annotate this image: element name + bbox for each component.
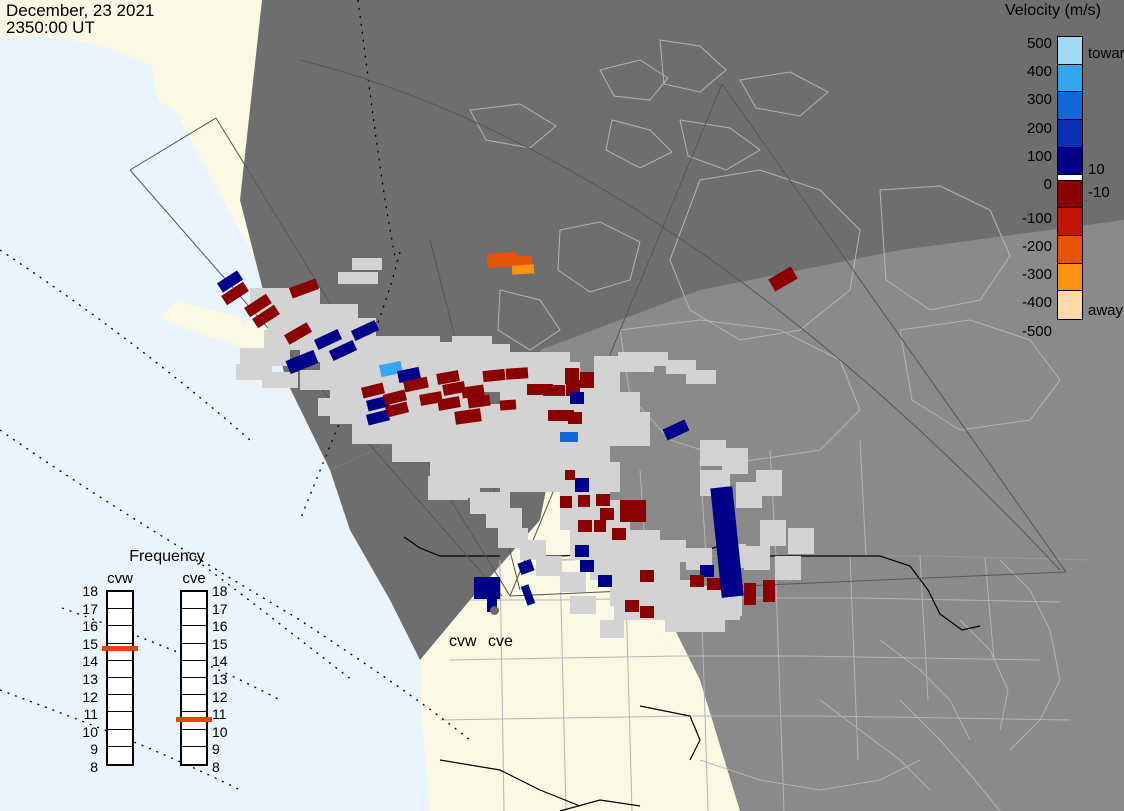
- radar-site-dot: [490, 606, 499, 615]
- colorbar-segment: [1058, 236, 1082, 264]
- frequency-scale-label: 10: [76, 725, 98, 739]
- colorbar-ticks: 5004003002001000-100-200-300-400-500: [996, 28, 1052, 328]
- colorbar-segment: [1058, 120, 1082, 148]
- velocity-cell: [500, 399, 517, 410]
- frequency-tick-row: [182, 644, 206, 661]
- ground-scatter-cell: [300, 370, 350, 390]
- frequency-scale-label: 11: [212, 707, 234, 721]
- ground-scatter-cell: [788, 528, 814, 554]
- frequency-tick-row: [182, 609, 206, 626]
- ground-scatter-cell: [690, 602, 716, 622]
- frequency-tick-row: [182, 592, 206, 609]
- ground-scatter-cell: [262, 372, 298, 388]
- colorbar-segment: [1058, 208, 1082, 236]
- colorbar-away-label: away: [1088, 303, 1123, 318]
- velocity-colorbar: Velocity (m/s) 5004003002001000-100-200-…: [1000, 0, 1124, 340]
- velocity-cell: [580, 560, 594, 572]
- velocity-cell: [744, 583, 756, 605]
- ground-scatter-cell: [640, 546, 666, 568]
- velocity-cell: [512, 255, 533, 265]
- ground-scatter-cell: [686, 370, 716, 384]
- velocity-cell: [580, 372, 594, 388]
- radar-velocity-map: December, 23 20212350:00 UT cvw cve Velo…: [0, 0, 1124, 811]
- velocity-cell: [707, 578, 721, 590]
- colorbar-tick-label: 500: [1027, 36, 1052, 51]
- frequency-tick-row: [182, 678, 206, 695]
- ground-scatter-cell: [412, 430, 472, 454]
- frequency-scale-label: 9: [212, 742, 234, 756]
- velocity-cell: [640, 570, 654, 582]
- colorbar-tick-label: -300: [1022, 267, 1052, 282]
- colorbar-tick-label: -100: [1022, 211, 1052, 226]
- frequency-scale-label: 18: [212, 584, 234, 598]
- frequency-scale-label: 8: [212, 760, 234, 774]
- ground-scatter-cell: [480, 470, 510, 488]
- frequency-gauge-cve-box: [180, 590, 208, 766]
- frequency-scale-label: 17: [212, 602, 234, 616]
- colorbar-segment: [1058, 65, 1082, 93]
- frequency-gauge-cve-labels: 18171615141312111098: [212, 590, 238, 766]
- velocity-cell: [612, 528, 626, 540]
- frequency-scale-label: 15: [212, 637, 234, 651]
- frequency-gauge-cve-grid: [182, 592, 206, 764]
- ground-scatter-cell: [744, 546, 770, 570]
- frequency-tick-row: [182, 661, 206, 678]
- frequency-gauge-cve-name: cve: [172, 570, 216, 587]
- time-text: 2350:00 UT: [6, 18, 95, 37]
- ground-scatter-cell: [318, 398, 358, 416]
- site-label-cve: cve: [488, 633, 513, 651]
- frequency-tick-row: [108, 609, 132, 626]
- ground-scatter-cell: [536, 556, 562, 576]
- frequency-marker: [102, 646, 138, 651]
- frequency-tick-row: [108, 695, 132, 712]
- velocity-cell: [596, 494, 610, 506]
- velocity-cell: [620, 500, 646, 522]
- colorbar-toward-label: toward: [1088, 46, 1124, 61]
- colorbar-segment: [1058, 181, 1082, 209]
- frequency-scale-label: 15: [76, 637, 98, 651]
- ground-scatter-cell: [450, 480, 480, 498]
- velocity-cell: [506, 367, 529, 380]
- frequency-tick-row: [108, 712, 132, 729]
- frequency-gauge-cvw-labels: 18171615141312111098: [76, 590, 102, 766]
- velocity-cell: [763, 580, 775, 602]
- site-label-cvw: cvw: [449, 633, 477, 651]
- colorbar-neg-threshold: -10: [1088, 185, 1110, 200]
- velocity-cell: [640, 606, 654, 618]
- frequency-scale-label: 13: [212, 672, 234, 686]
- colorbar-tick-label: 100: [1027, 149, 1052, 164]
- frequency-scale-label: 8: [76, 760, 98, 774]
- velocity-cell: [512, 264, 535, 275]
- ground-scatter-cell: [775, 556, 801, 580]
- velocity-cell: [578, 495, 590, 507]
- colorbar-tick-label: 400: [1027, 64, 1052, 79]
- frequency-scale-label: 12: [76, 690, 98, 704]
- frequency-scale-label: 10: [212, 725, 234, 739]
- frequency-title: Frequency: [92, 548, 242, 566]
- frequency-scale-label: 9: [76, 742, 98, 756]
- frequency-tick-row: [108, 747, 132, 764]
- colorbar-tick-label: -500: [1022, 324, 1052, 339]
- velocity-cell: [482, 369, 505, 382]
- velocity-cell: [570, 392, 584, 404]
- frequency-scale-label: 14: [76, 654, 98, 668]
- colorbar-segment: [1058, 264, 1082, 292]
- frequency-tick-row: [182, 626, 206, 643]
- ground-scatter-cell: [760, 520, 786, 546]
- colorbar-gradient: [1057, 36, 1083, 320]
- velocity-cell: [625, 600, 639, 612]
- frequency-marker: [176, 717, 212, 722]
- frequency-legend: Frequency cvw 18171615141312111098 cve 1…: [92, 548, 242, 793]
- colorbar-tick-label: -400: [1022, 295, 1052, 310]
- frequency-gauge-cvw-box: [106, 590, 134, 766]
- frequency-scale-label: 16: [76, 619, 98, 633]
- velocity-cell: [598, 575, 612, 587]
- frequency-tick-row: [182, 730, 206, 747]
- velocity-cell: [575, 545, 589, 557]
- frequency-tick-row: [182, 695, 206, 712]
- velocity-cell: [568, 412, 582, 424]
- velocity-cell: [560, 496, 572, 508]
- frequency-scale-label: 14: [212, 654, 234, 668]
- frequency-tick-row: [108, 592, 132, 609]
- ground-scatter-cell: [240, 348, 290, 366]
- colorbar-segment: [1058, 37, 1082, 65]
- frequency-scale-label: 17: [76, 602, 98, 616]
- ground-scatter-cell: [618, 352, 668, 366]
- velocity-cell: [560, 432, 578, 442]
- ground-scatter-cell: [352, 258, 382, 270]
- frequency-tick-row: [108, 730, 132, 747]
- colorbar-tick-label: 200: [1027, 121, 1052, 136]
- frequency-scale-label: 16: [212, 619, 234, 633]
- colorbar-segment: [1058, 92, 1082, 120]
- colorbar-pos-threshold: 10: [1088, 162, 1105, 177]
- velocity-cell: [474, 577, 500, 599]
- frequency-tick-row: [108, 661, 132, 678]
- velocity-cell: [690, 575, 704, 587]
- frequency-tick-row: [182, 747, 206, 764]
- ground-scatter-cell: [486, 508, 522, 528]
- colorbar-tick-label: 300: [1027, 92, 1052, 107]
- ground-scatter-cell: [716, 596, 742, 616]
- ground-scatter-cell: [338, 272, 378, 284]
- ground-scatter-cell: [660, 600, 686, 620]
- ground-scatter-cell: [600, 620, 624, 638]
- colorbar-title: Velocity (m/s): [978, 2, 1124, 20]
- frequency-scale-label: 12: [212, 690, 234, 704]
- ground-scatter-cell: [756, 470, 782, 496]
- frequency-gauge-cvw-name: cvw: [98, 570, 142, 587]
- colorbar-segment: [1058, 148, 1082, 176]
- velocity-cell: [575, 478, 589, 492]
- velocity-cell: [578, 520, 592, 532]
- velocity-cell: [594, 520, 606, 532]
- frequency-gauge-cvw-grid: [108, 592, 132, 764]
- frequency-tick-row: [108, 626, 132, 643]
- ground-scatter-cell: [570, 596, 596, 614]
- velocity-cell: [600, 508, 614, 520]
- frequency-scale-label: 13: [76, 672, 98, 686]
- timestamp-block: December, 23 20212350:00 UT: [6, 2, 154, 36]
- frequency-tick-row: [108, 678, 132, 695]
- ground-scatter-cell: [452, 336, 492, 350]
- colorbar-tick-label: 0: [1044, 177, 1052, 192]
- ground-scatter-cell: [560, 572, 586, 592]
- colorbar-segment: [1058, 291, 1082, 319]
- frequency-scale-label: 11: [76, 707, 98, 721]
- velocity-cell: [565, 470, 575, 480]
- colorbar-tick-label: -200: [1022, 239, 1052, 254]
- frequency-scale-label: 18: [76, 584, 98, 598]
- velocity-cell: [543, 385, 565, 396]
